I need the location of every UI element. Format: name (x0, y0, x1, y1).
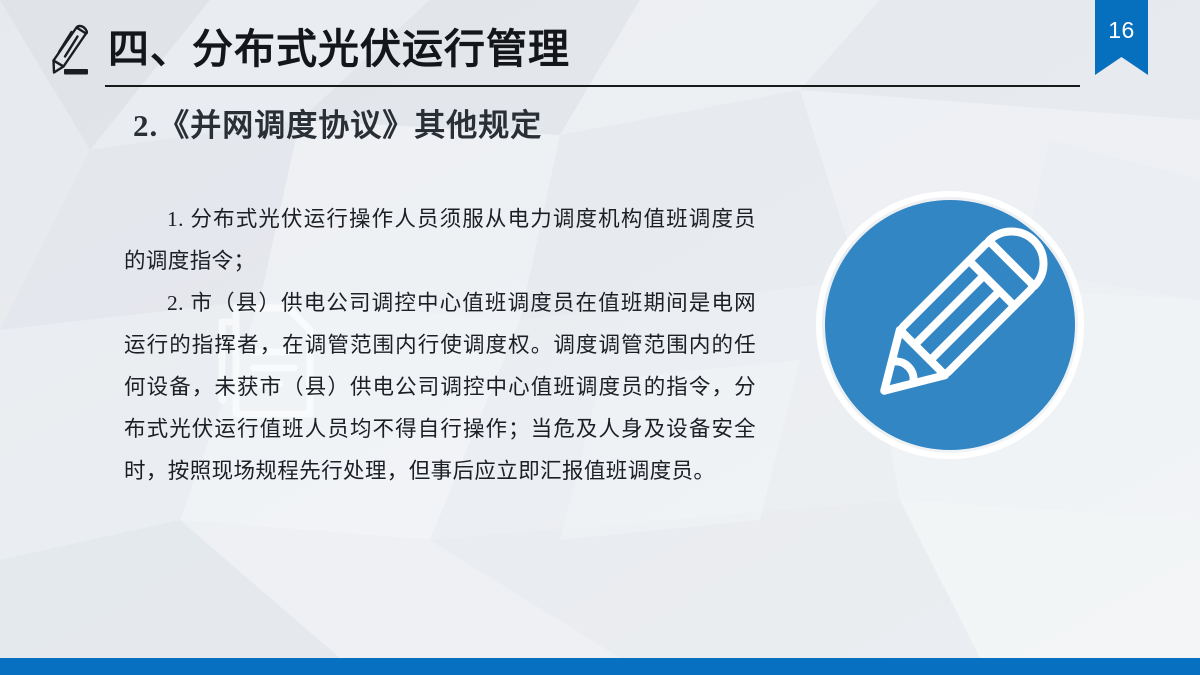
slide-canvas: 四、分布式光伏运行管理 2.《并网调度协议》其他规定 1. 分布式光伏运行操作人… (0, 0, 1200, 675)
body-text: 1. 分布式光伏运行操作人员须服从电力调度机构值班调度员的调度指令； 2. 市（… (124, 198, 756, 492)
page-number: 16 (1095, 0, 1148, 42)
section-subtitle: 2.《并网调度协议》其他规定 (133, 100, 542, 145)
pencil-circle-icon (815, 190, 1085, 460)
body-paragraph-1: 1. 分布式光伏运行操作人员须服从电力调度机构值班调度员的调度指令； (124, 198, 756, 282)
title-divider (105, 85, 1080, 87)
body-paragraph-2: 2. 市（县）供电公司调控中心值班调度员在值班期间是电网运行的指挥者，在调管范围… (124, 282, 756, 492)
bottom-accent-bar (0, 658, 1200, 675)
pencil-icon (42, 22, 98, 80)
page-title: 四、分布式光伏运行管理 (108, 15, 570, 75)
